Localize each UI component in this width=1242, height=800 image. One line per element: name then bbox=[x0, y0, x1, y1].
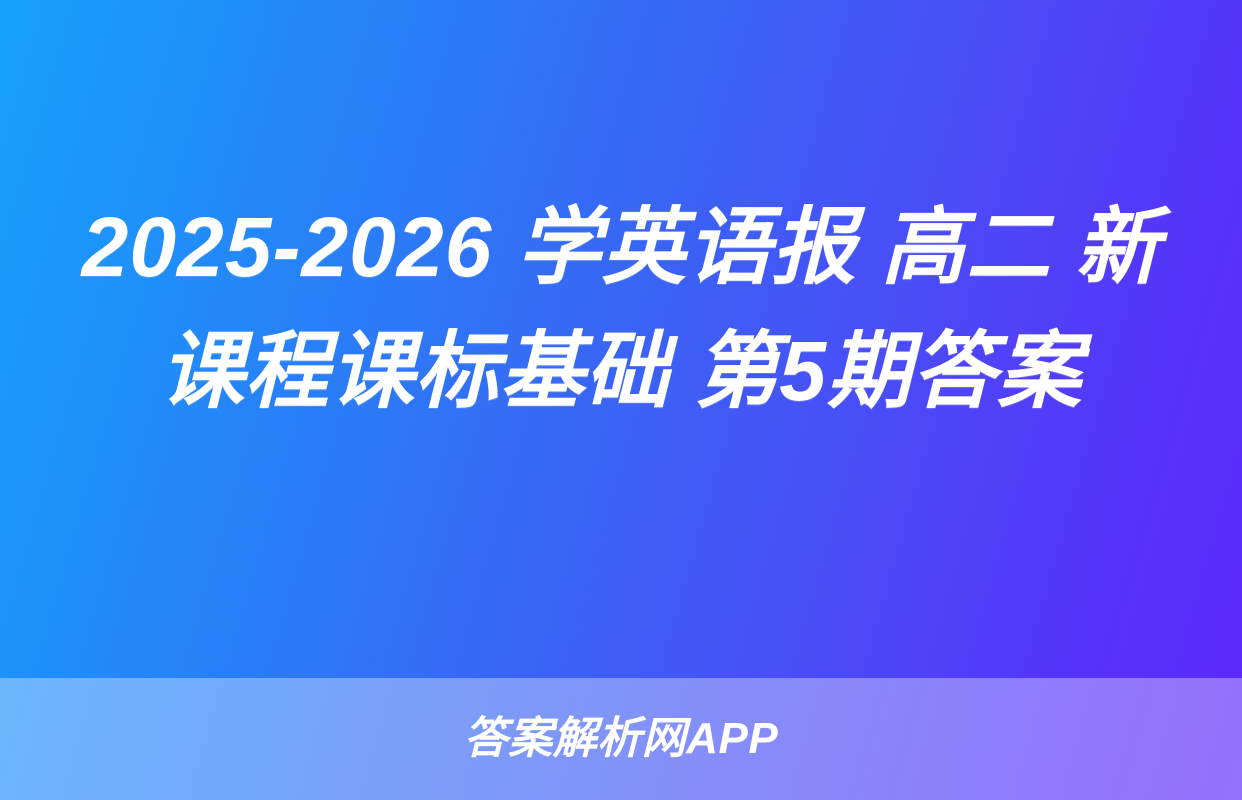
app-watermark-label: 答案解析网APP bbox=[464, 717, 778, 761]
title-block: 2025-2026 学英语报 高二 新课程课标基础 第5期答案 bbox=[0, 0, 1242, 678]
footer-watermark-band: 答案解析网APP bbox=[0, 678, 1242, 800]
page-title: 2025-2026 学英语报 高二 新课程课标基础 第5期答案 bbox=[72, 185, 1170, 434]
poster-canvas: 2025-2026 学英语报 高二 新课程课标基础 第5期答案 答案解析网APP bbox=[0, 0, 1242, 800]
